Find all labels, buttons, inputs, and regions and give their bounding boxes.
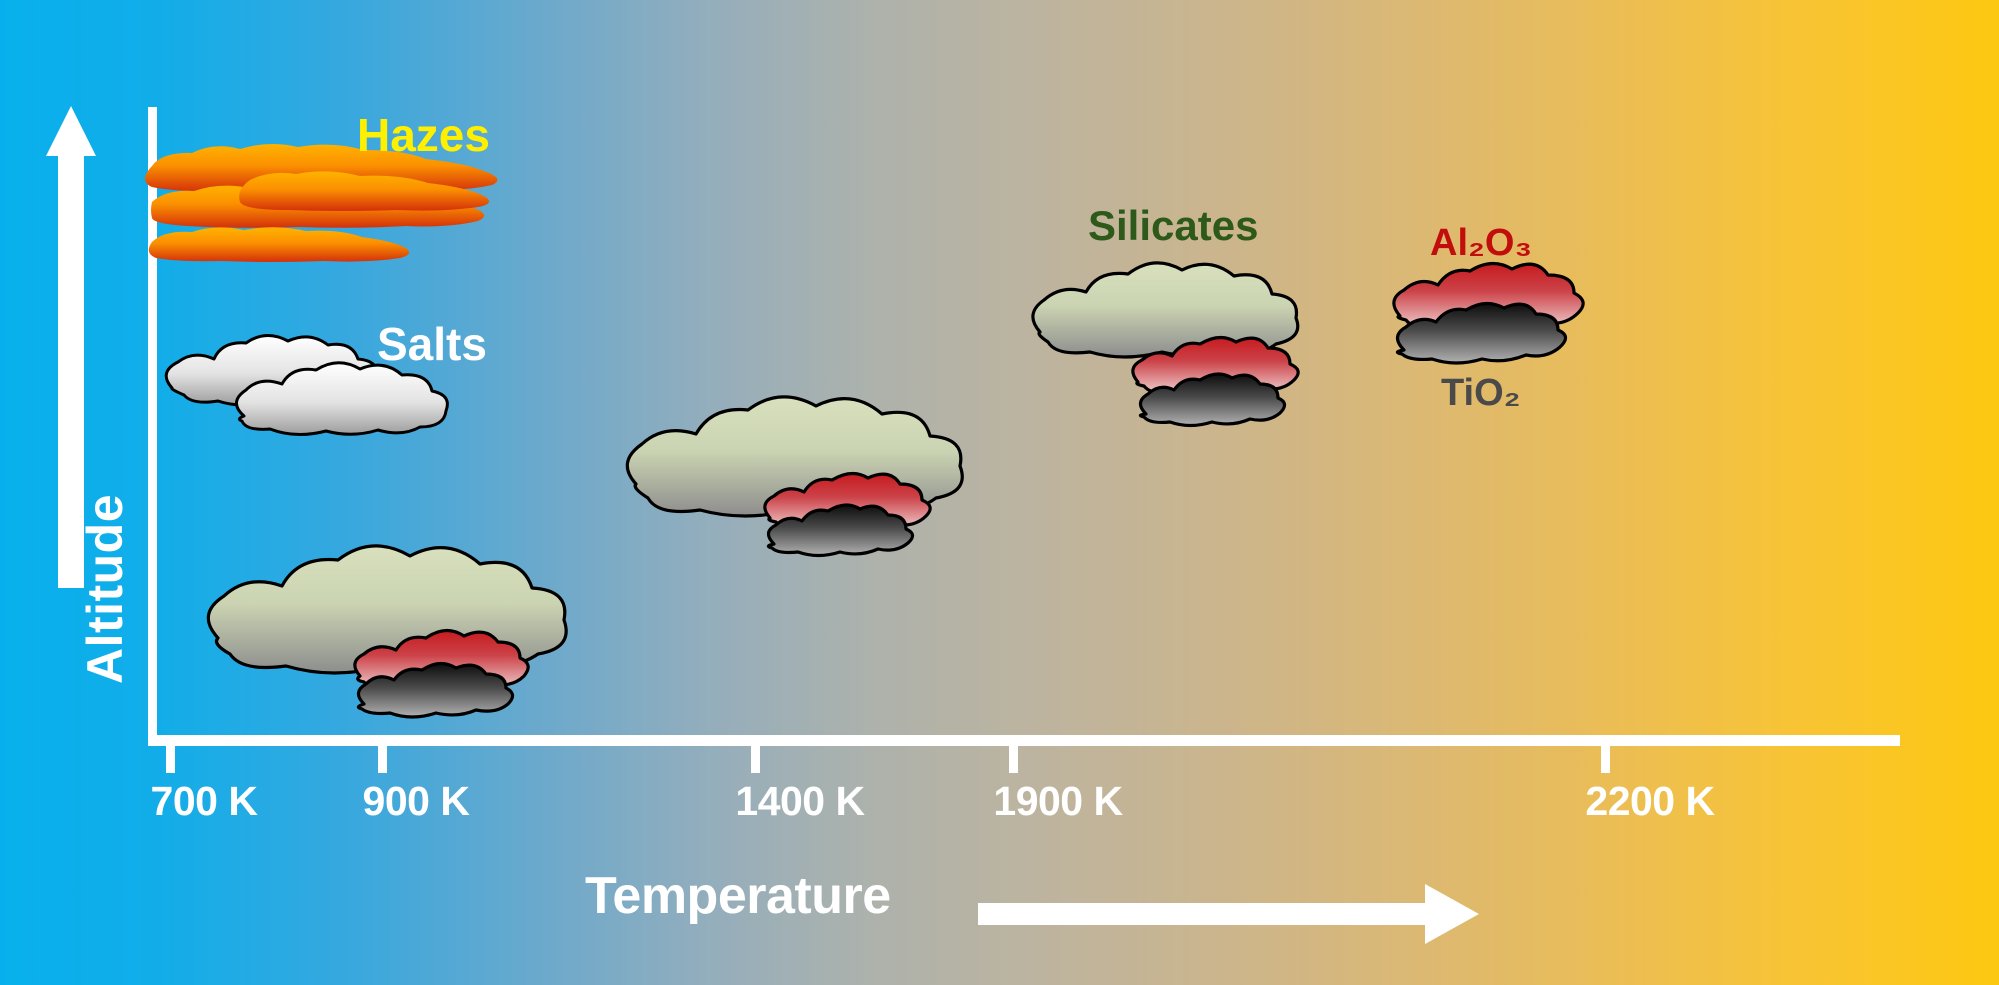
x-tick-label-1400: 1400 K (735, 778, 864, 825)
label-al2o3: Al₂O₃ (1430, 222, 1532, 265)
x-tick-label-2200: 2200 K (1585, 778, 1714, 825)
x-tick-label-700: 700 K (151, 778, 258, 825)
right-arrow-icon (1425, 884, 1479, 944)
y-axis-label: Altitude (76, 469, 134, 709)
x-tick-1900 (1009, 746, 1018, 773)
x-axis-label: Temperature (585, 866, 891, 926)
label-tio2: TiO₂ (1441, 372, 1521, 415)
x-tick-900 (378, 746, 387, 773)
condensate-group-1400 (608, 398, 1058, 573)
condensate-group-900 (188, 548, 668, 733)
haze-cloud-group (150, 146, 570, 276)
label-silicates: Silicates (1088, 202, 1258, 250)
x-tick-label-900: 900 K (363, 778, 470, 825)
condensate-group-2200 (1382, 276, 1612, 386)
label-hazes: Hazes (357, 108, 490, 162)
condensate-group-1900 (1018, 272, 1348, 447)
atmospheric-cloud-diagram: 700 K 900 K 1400 K 1900 K 2200 K Altitud… (0, 0, 1999, 985)
x-tick-700 (166, 746, 175, 773)
x-tick-label-1900: 1900 K (993, 778, 1122, 825)
x-axis-spine (148, 735, 1900, 746)
label-salts: Salts (377, 317, 487, 371)
x-tick-1400 (751, 746, 760, 773)
x-tick-2200 (1601, 746, 1610, 773)
x-axis-arrow-shaft (978, 903, 1430, 925)
